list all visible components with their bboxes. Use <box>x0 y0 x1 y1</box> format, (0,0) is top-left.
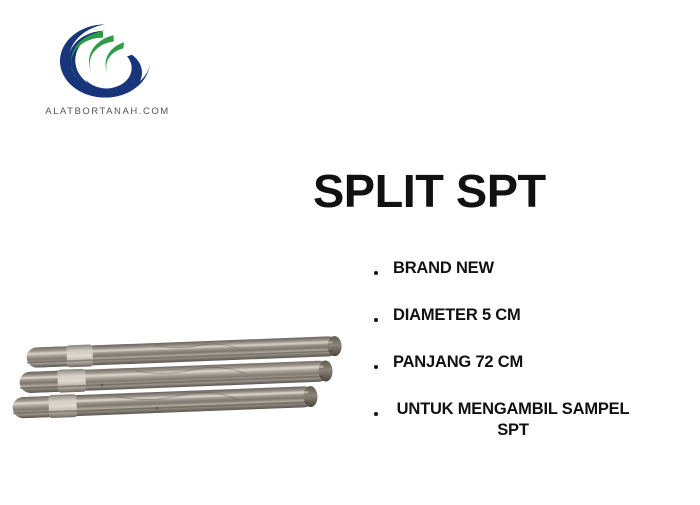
feature-list: BRAND NEW DIAMETER 5 CM PANJANG 72 CM UN… <box>374 258 674 459</box>
product-photo <box>6 330 358 442</box>
feature-label: BRAND NEW <box>393 258 494 279</box>
brand-logo: ALATBORTANAH.COM <box>40 22 175 127</box>
bullet-icon <box>374 365 378 369</box>
swirl-circle-logo-icon <box>57 22 153 100</box>
feature-label: PANJANG 72 CM <box>393 352 523 373</box>
website-url: ALATBORTANAH.COM <box>40 106 175 117</box>
list-item: UNTUK MENGAMBIL SAMPEL SPT <box>374 399 674 459</box>
bullet-icon <box>374 318 378 322</box>
bullet-icon <box>374 412 378 416</box>
list-item: BRAND NEW <box>374 258 674 305</box>
feature-label: DIAMETER 5 CM <box>393 305 521 326</box>
bullet-icon <box>374 271 378 275</box>
product-flyer: ALATBORTANAH.COM <box>0 0 700 505</box>
feature-label: UNTUK MENGAMBIL SAMPEL SPT <box>388 399 638 441</box>
product-title: SPLIT SPT <box>313 168 546 214</box>
list-item: PANJANG 72 CM <box>374 352 674 399</box>
list-item: DIAMETER 5 CM <box>374 305 674 352</box>
